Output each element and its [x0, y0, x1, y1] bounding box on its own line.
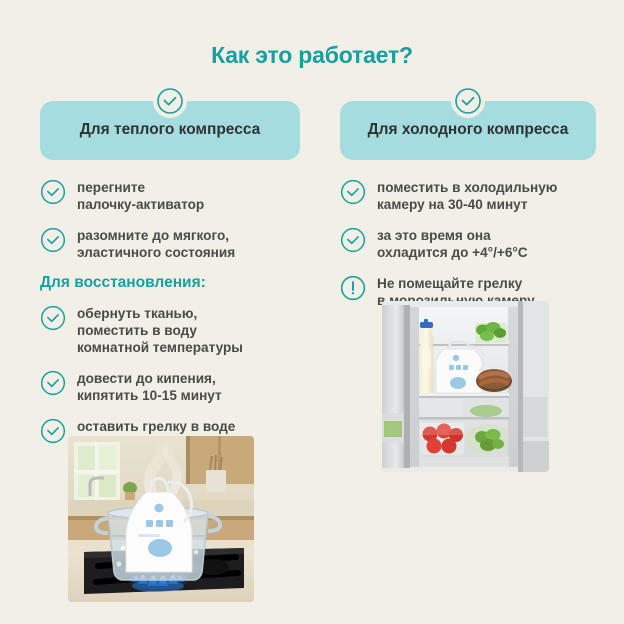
list-item: за это время она охладится до +4°/+6°C: [340, 226, 596, 262]
column-header-label: Для холодного компресса: [368, 121, 569, 140]
list-item: перегните палочку-активатор: [40, 178, 300, 214]
check-circle-icon: [40, 418, 66, 444]
pot-boiling-on-gas-stove-photo: [68, 436, 254, 602]
list-item: разомните до мягкого, эластичного состоя…: [40, 226, 300, 262]
list-item: обернуть тканью, поместить в воду комнат…: [40, 304, 300, 357]
steps-list-warm: перегните палочку-активатор разомните до…: [40, 178, 300, 452]
column-header-warm: Для теплого компресса: [40, 101, 300, 160]
exclamation-circle-icon: [340, 275, 366, 301]
list-item-text: довести до кипения, кипятить 10-15 минут: [77, 369, 222, 405]
column-header-cold: Для холодного компресса: [340, 101, 596, 160]
open-refrigerator-photo: [382, 301, 549, 472]
check-circle-icon: [451, 84, 485, 118]
column-header-label: Для теплого компресса: [80, 121, 261, 140]
check-circle-icon: [340, 227, 366, 253]
column-warm-compress: Для теплого компресса перегните палочку-…: [40, 101, 300, 464]
list-item: довести до кипения, кипятить 10-15 минут: [40, 369, 300, 405]
list-item-text: обернуть тканью, поместить в воду комнат…: [77, 304, 243, 357]
infographic-page: Как это работает? Для теплого компресса: [0, 0, 624, 624]
check-circle-icon: [153, 84, 187, 118]
check-circle-icon: [40, 370, 66, 396]
list-item-text: перегните палочку-активатор: [77, 178, 204, 214]
column-cold-compress: Для холодного компресса поместить в холо…: [340, 101, 596, 321]
check-circle-icon: [40, 179, 66, 205]
steps-list-cold: поместить в холодильную камеру на 30-40 …: [340, 178, 596, 309]
list-item-text: за это время она охладится до +4°/+6°C: [377, 226, 528, 262]
section-subheading: Для восстановления:: [40, 274, 300, 292]
check-circle-icon: [40, 305, 66, 331]
list-item-text: разомните до мягкого, эластичного состоя…: [77, 226, 235, 262]
check-circle-icon: [340, 179, 366, 205]
list-item-text: поместить в холодильную камеру на 30-40 …: [377, 178, 557, 214]
check-circle-icon: [40, 227, 66, 253]
page-title: Как это работает?: [0, 42, 624, 69]
list-item: поместить в холодильную камеру на 30-40 …: [340, 178, 596, 214]
